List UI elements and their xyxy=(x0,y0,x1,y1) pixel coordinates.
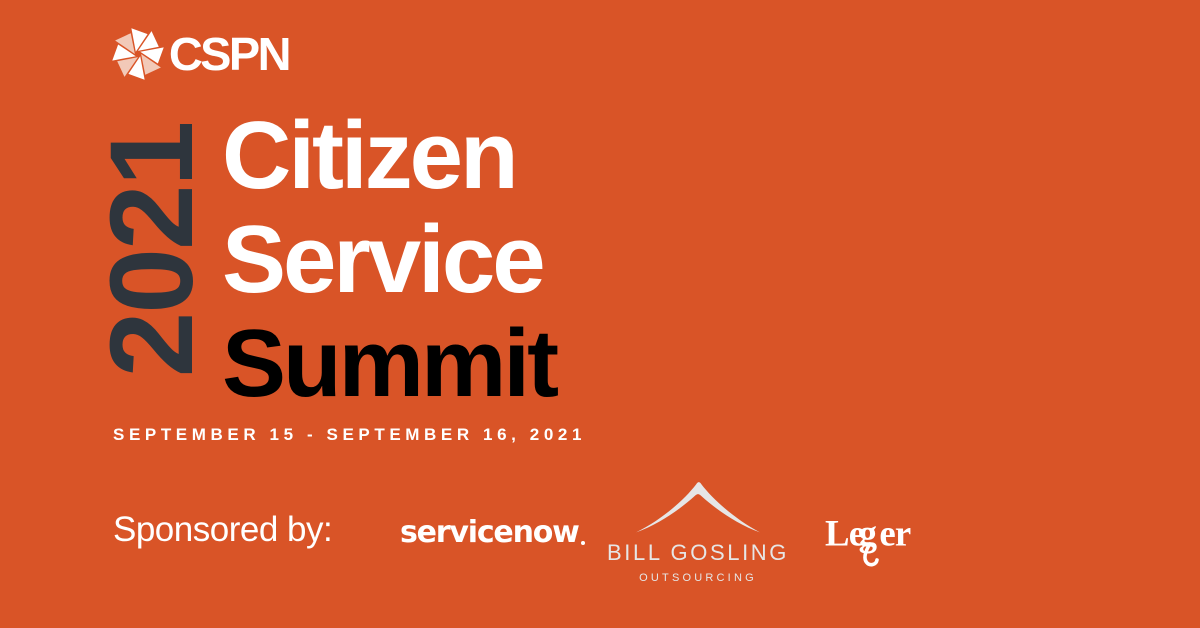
svg-text:er: er xyxy=(879,513,911,554)
sponsor-logo-bill-gosling[interactable]: BILL GOSLING OUTSOURCING xyxy=(598,480,798,584)
servicenow-wordmark: servicenow xyxy=(400,518,579,548)
sponsor-row: Sponsored by: servicenow BILL GOSLING OU… xyxy=(113,480,1113,590)
page-title: Citizen Service Summit xyxy=(222,104,862,416)
event-dates: SEPTEMBER 15 - SEPTEMBER 16, 2021 xyxy=(113,425,586,445)
cspn-wordmark: CSPN xyxy=(169,31,289,77)
chevron-wing-icon xyxy=(634,480,762,534)
year-badge: 2021 xyxy=(92,104,212,396)
cspn-logo[interactable]: CSPN xyxy=(112,28,288,80)
trademark-dot-icon xyxy=(581,541,585,545)
title-line-3: Summit xyxy=(222,312,862,416)
sponsor-logo-servicenow[interactable]: servicenow xyxy=(400,518,585,548)
cspn-pinwheel-icon xyxy=(112,28,164,80)
title-line-1: Citizen xyxy=(222,104,862,208)
sponsored-by-label: Sponsored by: xyxy=(113,510,332,550)
bill-gosling-wordmark: BILL GOSLING xyxy=(598,540,798,566)
leger-wordmark-icon: Le g er xyxy=(825,512,921,568)
bill-gosling-subtitle: OUTSOURCING xyxy=(598,572,798,584)
sponsor-logo-leger[interactable]: Le g er xyxy=(825,512,921,572)
year-label: 2021 xyxy=(93,123,211,378)
event-promo-banner: CSPN 2021 Citizen Service Summit SEPTEMB… xyxy=(0,0,1200,628)
title-line-2: Service xyxy=(222,208,862,312)
